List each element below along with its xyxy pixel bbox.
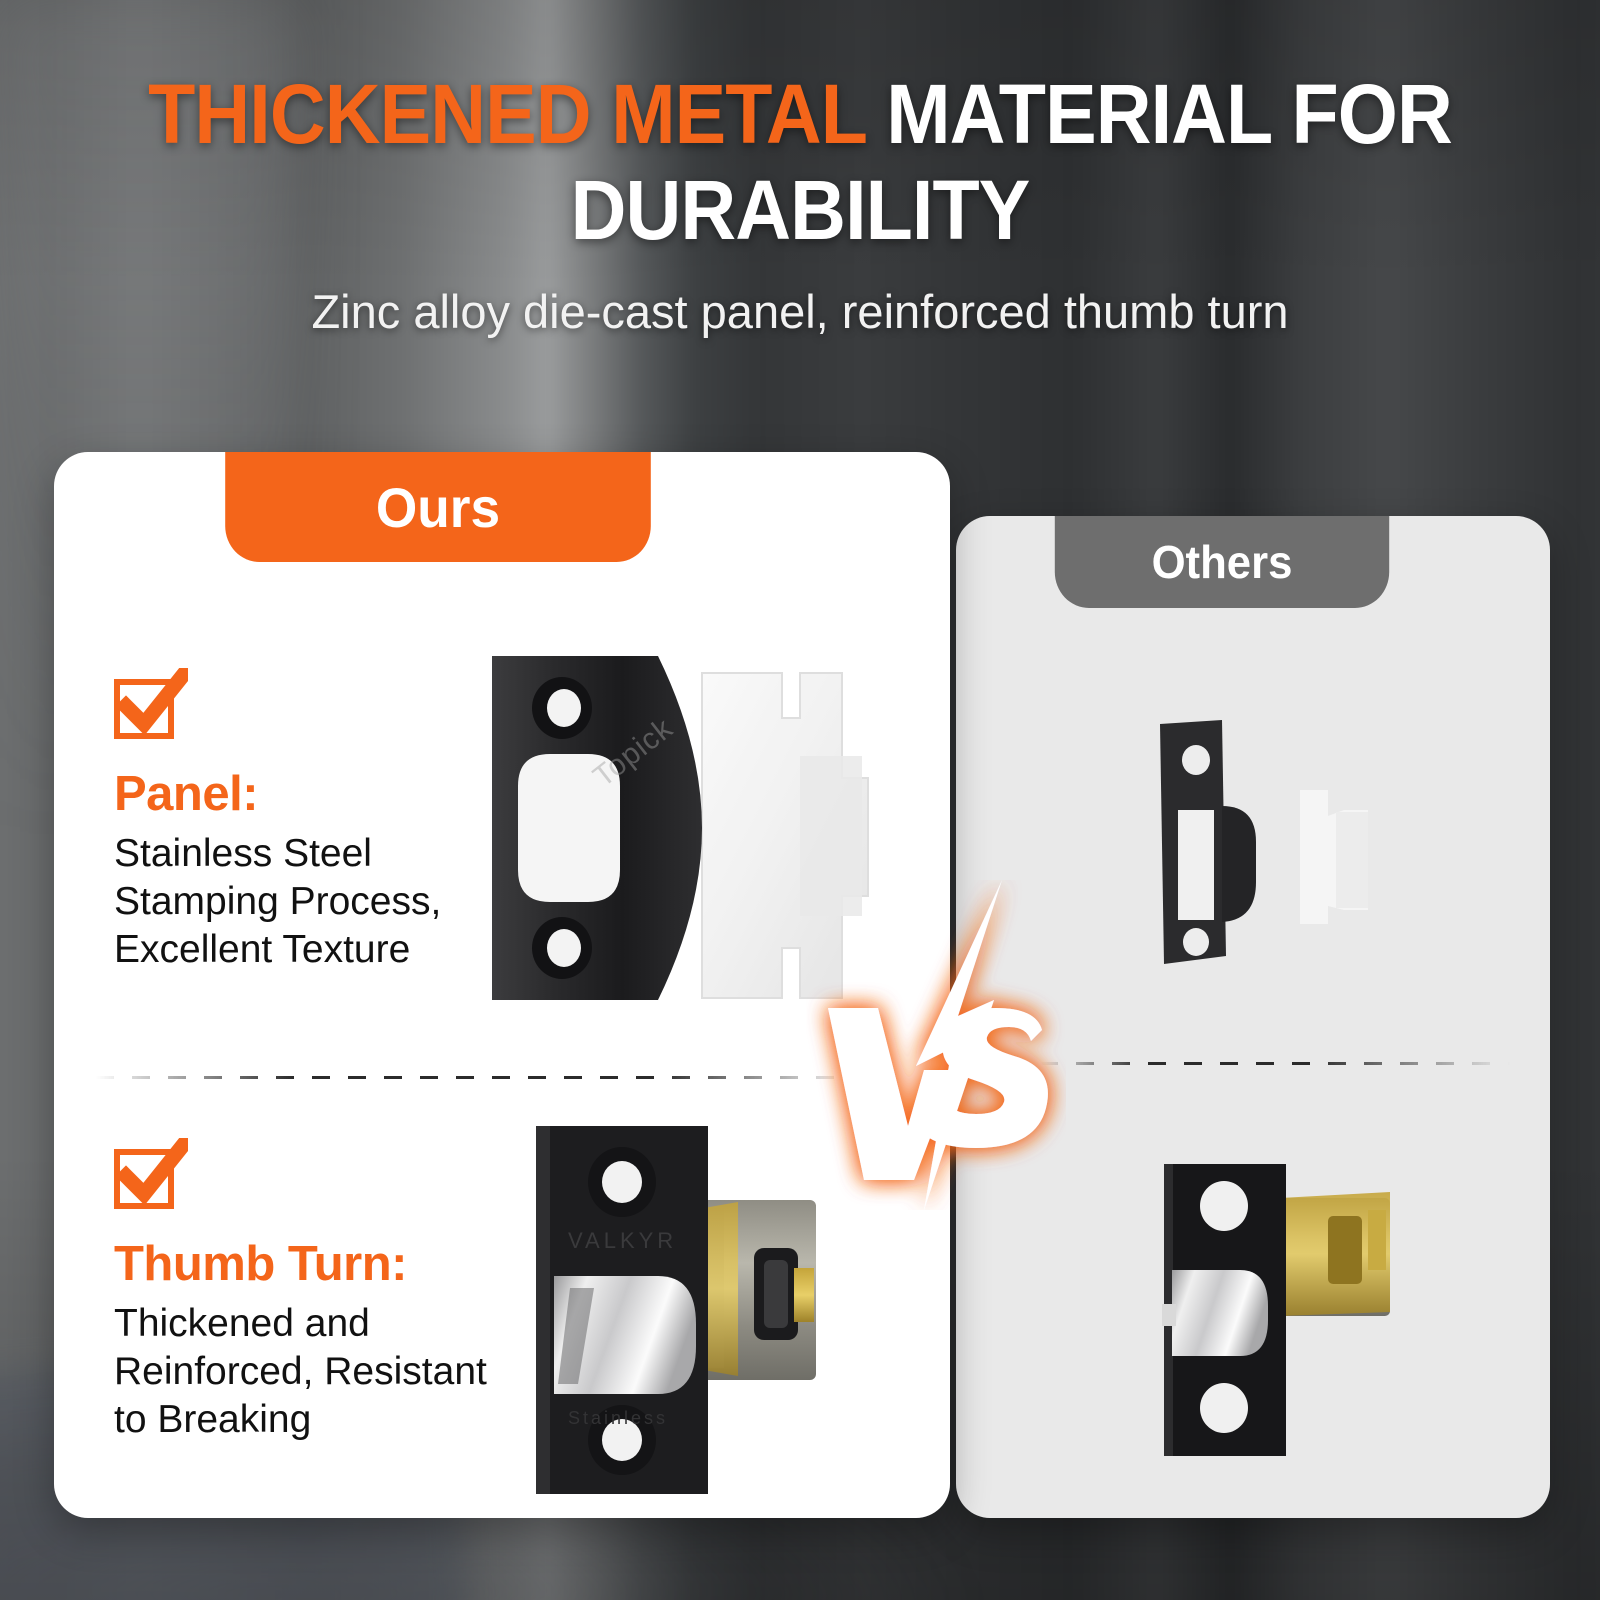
- vs-badge: [806, 880, 1066, 1210]
- tab-others[interactable]: Others: [1055, 516, 1389, 608]
- product-image-ours-thumb-turn: VALKYR Stainless: [508, 1108, 818, 1508]
- svg-text:Stainless: Stainless: [568, 1408, 668, 1428]
- latch-mechanism: [698, 1200, 816, 1380]
- product-image-others-panel: [1104, 694, 1404, 994]
- black-strike-plate: [492, 656, 702, 1000]
- feature-panel: Panel: Stainless Steel Stamping Process,…: [114, 668, 514, 974]
- checkbox-checked-icon: [114, 668, 188, 742]
- feature-thumb-turn-description: Thickened and Reinforced, Resistant to B…: [114, 1300, 514, 1444]
- feature-panel-description: Stainless Steel Stamping Process, Excell…: [114, 830, 514, 974]
- checkbox-checked-icon: [114, 1138, 188, 1212]
- svg-text:VALKYR: VALKYR: [568, 1228, 677, 1253]
- ours-divider: [96, 1076, 856, 1079]
- comparison-section: Others Ours Panel: Stainless Steel Stamp…: [0, 0, 1600, 1600]
- latch-mechanism-small: [1280, 1192, 1390, 1316]
- feature-thumb-turn: Thumb Turn: Thickened and Reinforced, Re…: [114, 1138, 514, 1444]
- black-faceplate-small: [1162, 1164, 1286, 1456]
- tab-ours[interactable]: Ours: [225, 452, 651, 562]
- black-faceplate: VALKYR Stainless: [536, 1126, 708, 1494]
- product-image-others-thumb-turn: [1128, 1136, 1418, 1486]
- thin-black-strike-plate: [1160, 720, 1256, 964]
- feature-panel-title: Panel:: [114, 766, 514, 822]
- others-divider: [1040, 1062, 1510, 1065]
- white-plastic-piece: [1300, 790, 1368, 924]
- feature-thumb-turn-title: Thumb Turn:: [114, 1236, 514, 1292]
